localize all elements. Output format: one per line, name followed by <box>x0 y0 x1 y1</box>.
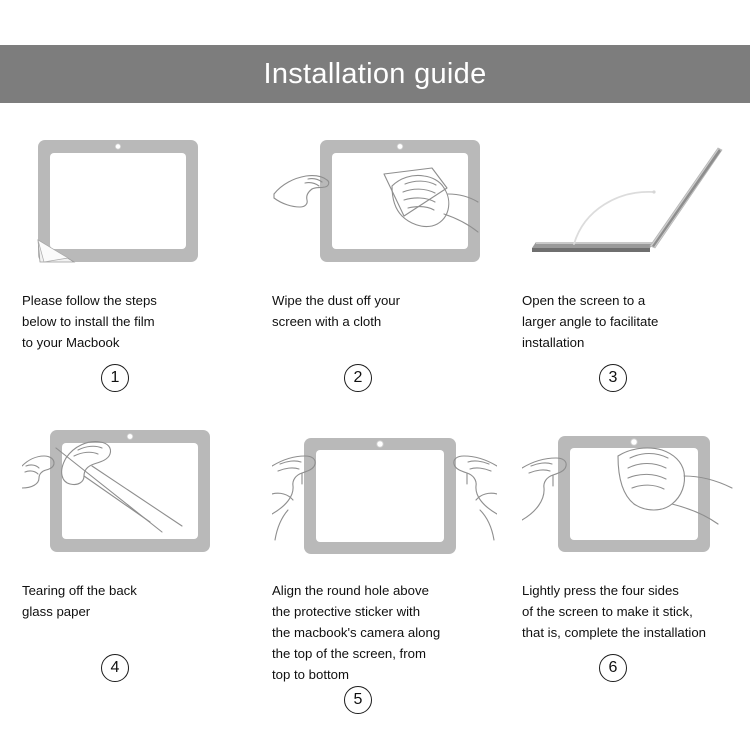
step-number-badge: 4 <box>101 654 129 682</box>
step-5-number-wrap: 5 <box>233 686 483 714</box>
installation-guide-page: Installation guide Please follow the ste… <box>0 0 750 750</box>
step-1-caption: Please follow the steps below to install… <box>22 290 228 353</box>
step-4-caption: Tearing off the back glass paper <box>22 580 228 640</box>
step-number-badge: 5 <box>344 686 372 714</box>
step-6-caption: Lightly press the four sides of the scre… <box>522 580 728 643</box>
step-card-3: Open the screen to a larger angle to fac… <box>500 118 750 408</box>
step-number-badge: 3 <box>599 364 627 392</box>
step-1-illustration <box>22 132 228 272</box>
step-card-2: Wipe the dust off your screen with a clo… <box>250 118 500 408</box>
step-3-number-wrap: 3 <box>488 364 738 392</box>
step-number-badge: 1 <box>101 364 129 392</box>
step-number-badge: 2 <box>344 364 372 392</box>
step-number-badge: 6 <box>599 654 627 682</box>
step-6-illustration <box>522 422 728 562</box>
step-3-caption: Open the screen to a larger angle to fac… <box>522 290 728 353</box>
step-4-number-wrap: 4 <box>0 654 240 682</box>
step-2-caption: Wipe the dust off your screen with a clo… <box>272 290 478 350</box>
step-card-6: Lightly press the four sides of the scre… <box>500 408 750 698</box>
step-5-caption: Align the round hole above the protectiv… <box>272 580 478 685</box>
step-3-illustration <box>522 132 728 272</box>
step-5-illustration <box>272 422 478 562</box>
step-2-number-wrap: 2 <box>233 364 483 392</box>
step-card-4: Tearing off the back glass paper 4 <box>0 408 250 698</box>
step-1-number-wrap: 1 <box>0 364 240 392</box>
steps-grid: Please follow the steps below to install… <box>0 118 750 738</box>
step-card-5: Align the round hole above the protectiv… <box>250 408 500 698</box>
step-4-illustration <box>22 422 228 562</box>
page-title: Installation guide <box>263 60 486 89</box>
step-6-number-wrap: 6 <box>488 654 738 682</box>
step-card-1: Please follow the steps below to install… <box>0 118 250 408</box>
header-bar: Installation guide <box>0 45 750 103</box>
step-2-illustration <box>272 132 478 272</box>
